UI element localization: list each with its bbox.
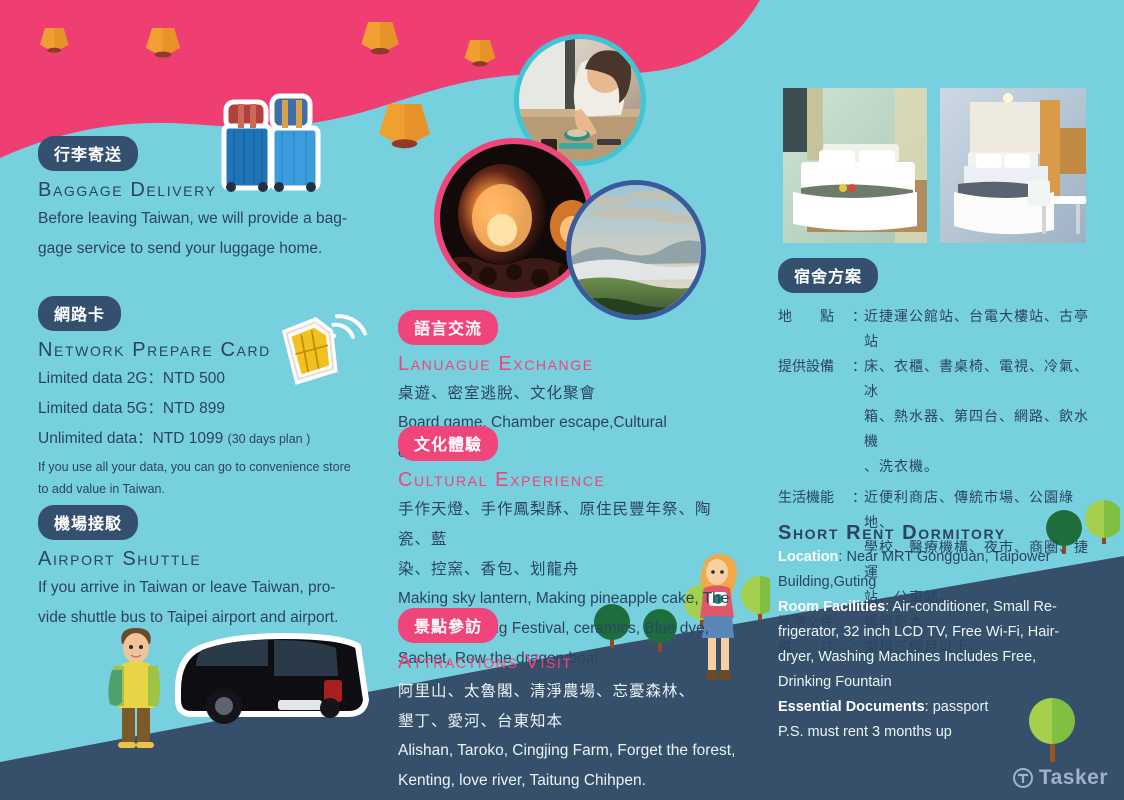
dorm-facilities-row-2: frigerator, 32 inch LCD TV, Free Wi-Fi, … [778, 620, 1098, 645]
tag-culture-cjk: 文化體驗 [398, 426, 498, 461]
heading-attractions-visit: Attractions Visit [398, 651, 738, 674]
dorm-room-green-wall-photo [783, 88, 927, 243]
black-shuttle-van-illustration [178, 636, 366, 724]
network-price-5g: Limited data 5G：NTD 899 [38, 394, 378, 424]
tag-airport-cjk: 機場接駁 [38, 505, 138, 540]
tasker-logo: Tasker [1012, 766, 1108, 790]
dorm-facilities-row-4: Drinking Fountain [778, 670, 1098, 695]
culture-cjk-line-2: 染、控窯、香包、划龍舟 [398, 554, 738, 584]
network-note-line-2: to add value in Taiwan. [38, 478, 378, 500]
section-attractions-visit: 景點參訪 Attractions Visit 阿里山、太魯閣、清淨農場、忘憂森林… [398, 608, 738, 796]
tasker-mark-icon [1012, 767, 1034, 789]
dorm-location-row: Location: Near MRT Gongguan, Taipower [778, 545, 1098, 570]
culture-cjk-line-1: 手作天燈、手作鳳梨酥、原住民豐年祭、陶瓷、藍 [398, 494, 738, 554]
attractions-cjk-line-1: 阿里山、太魯閣、清淨農場、忘憂森林、 [398, 676, 738, 706]
dorm-row-facilities: 提供設備 ： 床、衣櫃、書桌椅、電視、冷氣、冰 箱、熱水器、第四台、網路、飲水機… [778, 355, 1098, 480]
dorm-row-label: 提供設備 [778, 355, 852, 480]
attractions-en-line-2: Kenting, love river, Taitung Chihpen. [398, 766, 738, 796]
dorm-documents-value: passport [929, 699, 989, 715]
attractions-en-line-1: Alishan, Taroko, Cingjing Farm, Forget t… [398, 736, 738, 766]
dorm-row-value: 床、衣櫃、書桌椅、電視、冷氣、冰 [864, 355, 1098, 405]
heading-airport-shuttle: Airport Shuttle [38, 548, 378, 571]
network-note-line-1: If you use all your data, you can go to … [38, 456, 378, 478]
dorm-row-label: 地 點 [778, 305, 852, 355]
section-short-rent-dormitory: Short Rent Dormitory Location: Near MRT … [778, 522, 1098, 745]
section-baggage-delivery: 行李寄送 Baggage Delivery Before leaving Tai… [38, 136, 378, 264]
tag-attractions-cjk: 景點參訪 [398, 608, 498, 643]
tasker-logo-text: Tasker [1039, 766, 1108, 790]
dorm-room-blue-wall-photo [940, 88, 1086, 243]
dorm-ps-note: P.S. must rent 3 months up [778, 720, 1098, 745]
mountain-cloud-sea-photo [566, 180, 706, 320]
dorm-location-row-2: Building,Guting [778, 570, 1098, 595]
network-unlimited-note: (30 days plan ) [228, 432, 311, 446]
tag-baggage-cjk: 行李寄送 [38, 136, 138, 171]
tag-network-cjk: 網路卡 [38, 296, 121, 331]
tag-language-cjk: 語言交流 [398, 310, 498, 345]
dorm-location-colon: : [838, 549, 842, 565]
dorm-facilities-value: Air-conditioner, Small Re- [889, 599, 1057, 615]
heading-short-rent-dormitory: Short Rent Dormitory [778, 522, 1098, 545]
brochure-page: 行李寄送 Baggage Delivery Before leaving Tai… [0, 0, 1124, 800]
network-unlimited-label: Unlimited data：NTD 1099 [38, 430, 223, 447]
airport-body-line-1: If you arrive in Taiwan or leave Taiwan,… [38, 573, 378, 603]
dorm-row-value: 箱、熱水器、第四台、網路、飲水機 [864, 405, 1098, 455]
heading-network-prepare-card: Network Prepare Card [38, 339, 378, 362]
dorm-row-location: 地 點 ： 近捷運公館站、台電大樓站、古亭站 [778, 305, 1098, 355]
section-network-card: 網路卡 Network Prepare Card Limited data 2G… [38, 296, 378, 500]
heading-lanuague-exchange: Lanuague Exchange [398, 353, 738, 376]
dorm-row-colon: ： [852, 355, 864, 480]
dorm-location-value: Near MRT Gongguan, Taipower [846, 549, 1050, 565]
language-cjk-line-1: 桌遊、密室逃脫、文化聚會 [398, 378, 738, 408]
dorm-facilities-row-3: dryer, Washing Machines Includes Free, [778, 645, 1098, 670]
dorm-documents-label: Essential Documents [778, 699, 925, 715]
dorm-row-value: 、洗衣機。 [864, 455, 1098, 480]
attractions-cjk-line-2: 墾丁、愛河、台東知本 [398, 706, 738, 736]
dorm-facilities-label: Room Facilities [778, 599, 885, 615]
section-airport-shuttle: 機場接駁 Airport Shuttle If you arrive in Ta… [38, 505, 378, 633]
baggage-body-line-2: gage service to send your luggage home. [38, 234, 378, 264]
airport-body-line-2: vide shuttle bus to Taipei airport and a… [38, 603, 378, 633]
dorm-location-label: Location [778, 549, 838, 565]
dorm-facilities-row: Room Facilities: Air-conditioner, Small … [778, 595, 1098, 620]
baggage-body-line-1: Before leaving Taiwan, we will provide a… [38, 204, 378, 234]
dorm-row-value: 近捷運公館站、台電大樓站、古亭站 [864, 309, 1089, 350]
network-price-2g: Limited data 2G：NTD 500 [38, 364, 378, 394]
network-price-unlimited: Unlimited data：NTD 1099 (30 days plan ) [38, 424, 378, 454]
heading-baggage-delivery: Baggage Delivery [38, 179, 378, 202]
tag-dormitory-cjk: 宿舍方案 [778, 258, 878, 293]
dorm-row-colon: ： [852, 305, 864, 355]
dorm-documents-row: Essential Documents: passport [778, 695, 1098, 720]
backpacker-boy-illustration [100, 618, 370, 748]
heading-cultural-experience: Cultural Experience [398, 469, 738, 492]
